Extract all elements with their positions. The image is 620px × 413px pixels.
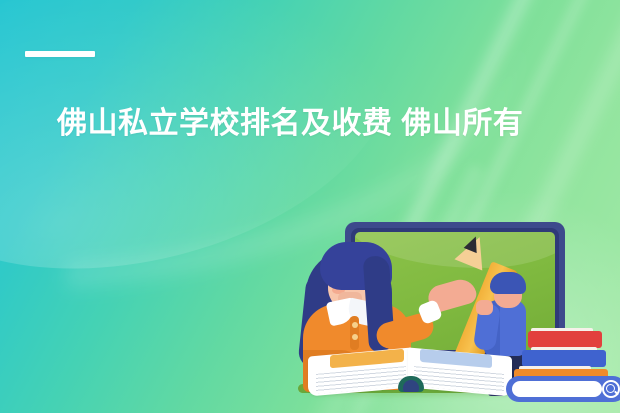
page-title: 佛山私立学校排名及收费 佛山所有 [57, 104, 602, 144]
teacher-button [352, 334, 358, 340]
student-hand [476, 300, 493, 315]
search-input[interactable] [512, 381, 602, 397]
article-cover-banner: 佛山私立学校排名及收费 佛山所有 [0, 0, 620, 413]
open-book-spine-inner [403, 380, 419, 392]
education-illustration [300, 200, 620, 413]
book-middle [522, 350, 606, 367]
accent-rule [25, 51, 95, 57]
student-hair [490, 272, 526, 294]
book-top [528, 331, 602, 348]
teacher-button [352, 322, 358, 328]
